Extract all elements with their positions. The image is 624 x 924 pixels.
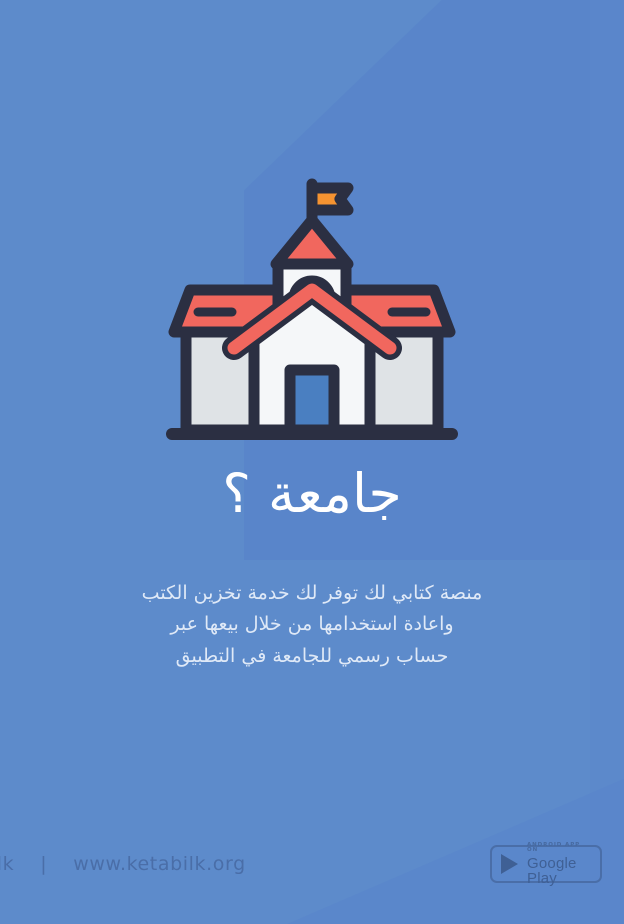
illustration-container [0, 168, 624, 450]
google-play-badge[interactable]: ANDROID APP ON Google Play [490, 845, 602, 883]
description-line-3: حساب رسمي للجامعة في التطبيق [96, 641, 528, 672]
flag-icon [312, 188, 348, 210]
footer-separator: | [40, 853, 47, 875]
description-line-1: منصة كتابي لك توفر لك خدمة تخزين الكتب [96, 578, 528, 609]
google-play-badge-text: ANDROID APP ON Google Play [527, 843, 593, 886]
google-play-triangle-icon [499, 852, 521, 876]
social-handle[interactable]: abilk [0, 853, 14, 875]
background-panel-bottom-diagonal [0, 704, 624, 924]
badge-small-text: ANDROID APP ON [527, 843, 593, 854]
university-building-illustration [162, 168, 462, 450]
page-title: جامعة ؟ [0, 466, 624, 523]
background-panel-right-edge [590, 0, 624, 924]
footer-left-group: abilk | www.ketabilk.org [0, 853, 246, 875]
door [290, 370, 334, 430]
tower-roof [276, 220, 348, 264]
footer-bar: abilk | www.ketabilk.org ANDROID APP ON … [0, 842, 624, 886]
description-text: منصة كتابي لك توفر لك خدمة تخزين الكتب و… [0, 578, 624, 672]
website-url[interactable]: www.ketabilk.org [73, 853, 245, 875]
description-line-2: واعادة استخدامها من خلال بيعها عبر [96, 609, 528, 640]
slide-canvas: جامعة ؟ منصة كتابي لك توفر لك خدمة تخزين… [0, 0, 624, 924]
badge-big-text: Google Play [527, 856, 593, 886]
